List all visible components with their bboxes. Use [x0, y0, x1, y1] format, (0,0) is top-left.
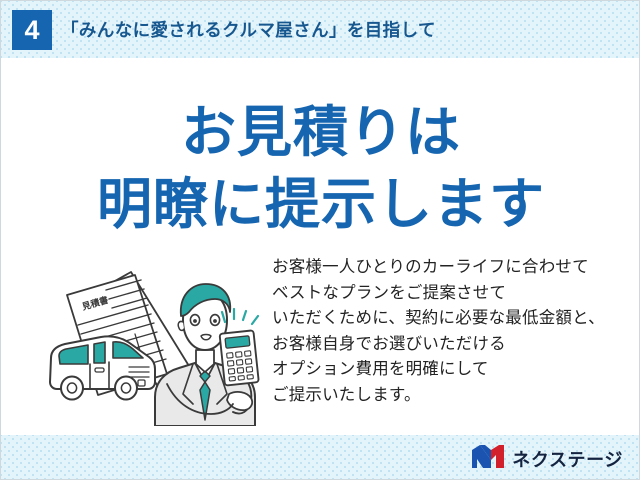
main-stage: お見積りは 明瞭に提示します 見積書 [1, 58, 640, 435]
headline-line-2: 明瞭に提示します [1, 159, 640, 239]
header-title: 「みんなに愛されるクルマ屋さん」を目指して [61, 17, 436, 42]
body-line: ご提示いたします。 [272, 383, 638, 409]
section-number-badge: 4 [12, 10, 52, 50]
brand-lockup: ネクステージ [471, 444, 623, 474]
footer-band: ネクステージ [1, 435, 640, 480]
headline-line-1: お見積りは [1, 87, 640, 167]
promo-slide: 4 「みんなに愛されるクルマ屋さん」を目指して お見積りは 明瞭に提示します 見… [0, 0, 640, 480]
body-copy: お客様一人ひとりのカーライフに合わせて ベストなプランをご提案させて いただくた… [272, 255, 638, 409]
brand-name: ネクステージ [512, 446, 623, 472]
body-line: オプション費用を明確にして [272, 357, 638, 383]
salesman-quotation-van-illustration: 見積書 [43, 254, 271, 426]
body-line: お客様自身でお選びいただける [272, 332, 638, 358]
body-line: ベストなプランをご提案させて [272, 281, 638, 307]
body-line: いただくために、契約に必要な最低金額と、 [272, 306, 638, 332]
body-line: お客様一人ひとりのカーライフに合わせて [272, 255, 638, 281]
nextage-n-logo-icon [471, 444, 505, 474]
header-band: 4 「みんなに愛されるクルマ屋さん」を目指して [1, 1, 640, 58]
